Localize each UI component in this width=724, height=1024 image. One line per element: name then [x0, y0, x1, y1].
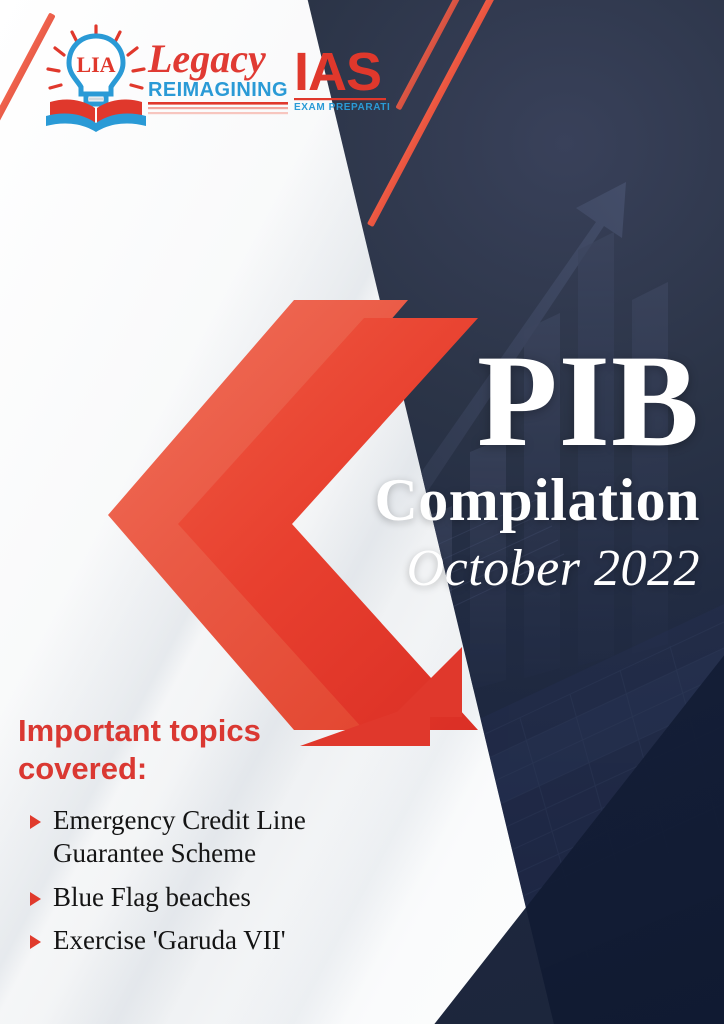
lightbulb-book-logo-icon: LIA	[42, 24, 150, 132]
logo-tagline: REIMAGINING	[148, 79, 288, 101]
triangle-bullet-icon	[30, 935, 41, 949]
list-item: Emergency Credit Line Guarantee Scheme	[18, 804, 418, 871]
page-title: PIB	[230, 338, 700, 465]
triangle-bullet-icon	[30, 815, 41, 829]
page-subtitle: Compilation	[230, 469, 700, 532]
list-item: Blue Flag beaches	[18, 881, 418, 914]
logo-script-name: Legacy	[147, 36, 266, 81]
triangle-bullet-icon	[30, 892, 41, 906]
logo-sub-tagline: EXAM PREPARATION	[294, 102, 390, 113]
logo-exam-name: IAS	[294, 42, 381, 102]
list-item: Exercise 'Garuda VII'	[18, 924, 418, 957]
cover-page: LIA Legacy REIMAGINING IAS EXAM PREPARAT…	[0, 0, 724, 1024]
list-item-label: Exercise 'Garuda VII'	[53, 924, 286, 957]
topics-list: Emergency Credit Line Guarantee Scheme B…	[18, 804, 418, 958]
topics-heading: Important topics covered:	[18, 712, 308, 788]
topics-section: Important topics covered: Emergency Cred…	[18, 712, 418, 968]
brand-logo[interactable]: LIA Legacy REIMAGINING IAS EXAM PREPARAT…	[42, 22, 387, 134]
brand-wordmark: Legacy REIMAGINING IAS EXAM PREPARATION	[146, 28, 390, 128]
list-item-label: Blue Flag beaches	[53, 881, 251, 914]
list-item-label: Emergency Credit Line Guarantee Scheme	[53, 804, 383, 871]
logo-badge-text: LIA	[76, 52, 115, 77]
page-edition: October 2022	[230, 540, 700, 597]
cover-title-block: PIB Compilation October 2022	[230, 338, 700, 597]
